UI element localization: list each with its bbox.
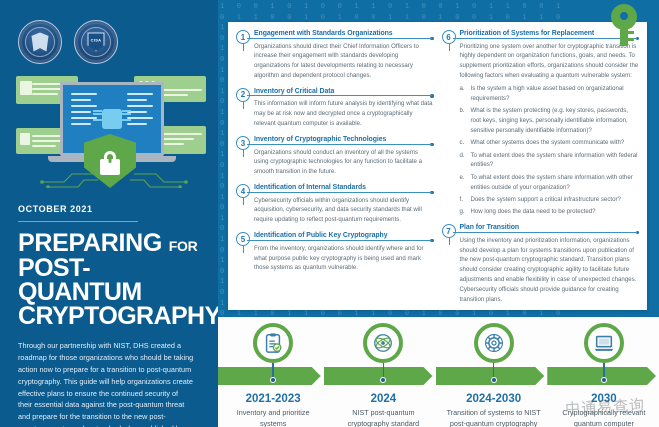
- item-heading: Identification of Public Key Cryptograph…: [254, 232, 434, 241]
- subitem-text: What other systems does the system commu…: [471, 138, 625, 148]
- screen-text-right: [127, 93, 153, 129]
- title-divider: [18, 221, 138, 222]
- laptop-encryption-illustration: [16, 76, 212, 184]
- key-icon: [611, 4, 641, 46]
- milestone-bubble: [253, 323, 293, 363]
- timeline-milestone: 2024-2030 Transition of systems to NIST …: [439, 317, 549, 427]
- subitem: b.What is the system protecting (e.g. ke…: [460, 106, 640, 136]
- item-heading: Inventory of Critical Data: [254, 88, 434, 97]
- clipboard-check-icon: [262, 332, 284, 354]
- subitem-letter: g.: [460, 207, 467, 217]
- guidance-item: 2 Inventory of Critical Data This inform…: [236, 88, 434, 129]
- item-heading: Identification of Internal Standards: [254, 184, 434, 193]
- cisa-seal: CISA: [74, 20, 118, 64]
- intro-paragraph: Through our partnership with NIST, DHS c…: [18, 340, 194, 427]
- milestone-description: Transition of systems to NIST post-quant…: [439, 408, 549, 427]
- item-body: Cybersecurity officials within organizat…: [254, 196, 434, 226]
- milestone-year: 2030: [549, 393, 659, 405]
- title-line-1: PREPARING: [18, 229, 162, 257]
- item-body: From the inventory, organizations should…: [254, 244, 434, 274]
- timeline-nodes: 2021-2023 Inventory and prioritize syste…: [218, 317, 659, 427]
- screen-text-left: [71, 93, 97, 129]
- milestone-description: Inventory and prioritize systems: [218, 408, 328, 427]
- milestone-year: 2024: [328, 393, 438, 405]
- item-body: Organizations should conduct an inventor…: [254, 148, 434, 178]
- title-line-2: POST-QUANTUM: [18, 257, 204, 305]
- guidance-card: 1 Engagement with Standards Organization…: [228, 22, 647, 310]
- item-heading: Engagement with Standards Organizations: [254, 30, 434, 39]
- gear-icon: [483, 332, 505, 354]
- subitem-letter: b.: [460, 106, 467, 136]
- right-panel: 1 0 0 1 0 1 0 0 1 1 0 1 0 0 1 0 1 1 0 0 …: [218, 0, 659, 427]
- laptop-icon: [593, 332, 615, 354]
- guidance-item: 7 Plan for Transition Using the inventor…: [442, 224, 640, 305]
- guidance-item: 4 Identification of Internal Standards C…: [236, 184, 434, 225]
- subitem: f.Does the system support a critical inf…: [460, 195, 640, 205]
- subitem-text: What is the system protecting (e.g. key …: [471, 106, 640, 136]
- guidance-item: 3 Inventory of Cryptographic Technologie…: [236, 136, 434, 177]
- publication-date: OCTOBER 2021: [18, 204, 204, 214]
- cpu-chip-icon: [102, 109, 122, 129]
- milestone-bubble: [363, 323, 403, 363]
- milestone-year: 2024-2030: [439, 393, 549, 405]
- milestone-description: Cryptographically relevant quantum compu…: [549, 408, 659, 427]
- guidance-column-right: 6 Prioritization of Systems for Replacem…: [442, 30, 640, 306]
- dhs-seal: [18, 20, 62, 64]
- poster-root: CISA: [0, 0, 659, 427]
- subitem-letter: d.: [460, 151, 467, 171]
- guidance-item: 6 Prioritization of Systems for Replacem…: [442, 30, 640, 217]
- item-subitems: a.Is the system a high value asset based…: [460, 84, 640, 217]
- item-body: This information will inform future anal…: [254, 99, 434, 129]
- subitem-letter: e.: [460, 173, 467, 193]
- item-body: Using the inventory and prioritization i…: [460, 236, 640, 305]
- atom-gear-icon: [372, 332, 394, 354]
- roadmap-timeline: 2021-2023 Inventory and prioritize syste…: [218, 317, 659, 427]
- milestone-year: 2021-2023: [218, 393, 328, 405]
- subitem-letter: a.: [460, 84, 467, 104]
- timeline-milestone: 2024 NIST post-quantum cryptography stan…: [328, 317, 438, 427]
- page-title: PREPARING FOR POST-QUANTUM CRYPTOGRAPHY: [18, 232, 204, 329]
- subitem-text: To what extent does the system share inf…: [471, 151, 640, 171]
- guidance-item: 5 Identification of Public Key Cryptogra…: [236, 232, 434, 273]
- subitem-text: How long does the data need to be protec…: [471, 207, 596, 217]
- subitem-text: Does the system support a critical infra…: [471, 195, 621, 205]
- padlock-icon: [100, 151, 120, 175]
- cisa-seal-abbr: CISA: [89, 38, 104, 43]
- left-panel: CISA: [0, 0, 218, 427]
- milestone-bubble: [584, 323, 624, 363]
- subitem-letter: c.: [460, 138, 467, 148]
- milestone-bubble: [474, 323, 514, 363]
- timeline-milestone: 2030 Cryptographically relevant quantum …: [549, 317, 659, 427]
- subitem-letter: f.: [460, 195, 467, 205]
- guidance-column-left: 1 Engagement with Standards Organization…: [236, 30, 434, 306]
- subitem: a.Is the system a high value asset based…: [460, 84, 640, 104]
- subitem: g.How long does the data need to be prot…: [460, 207, 640, 217]
- agency-seals: CISA: [18, 20, 204, 64]
- subitem: d.To what extent does the system share i…: [460, 151, 640, 171]
- guidance-item: 1 Engagement with Standards Organization…: [236, 30, 434, 81]
- subitem: c.What other systems does the system com…: [460, 138, 640, 148]
- milestone-description: NIST post-quantum cryptography standard …: [328, 408, 438, 427]
- item-heading: Plan for Transition: [460, 224, 640, 233]
- title-line-3: CRYPTOGRAPHY: [18, 305, 204, 329]
- item-body: Organizations should direct their Chief …: [254, 42, 434, 81]
- timeline-milestone: 2021-2023 Inventory and prioritize syste…: [218, 317, 328, 427]
- title-for-word: FOR: [169, 238, 198, 254]
- item-body: Prioritizing one system over another for…: [460, 42, 640, 81]
- subitem-text: Is the system a high value asset based o…: [471, 84, 640, 104]
- subitem-text: To what extent does the system share inf…: [471, 173, 640, 193]
- item-heading: Inventory of Cryptographic Technologies: [254, 136, 434, 145]
- subitem: e.To what extent does the system share i…: [460, 173, 640, 193]
